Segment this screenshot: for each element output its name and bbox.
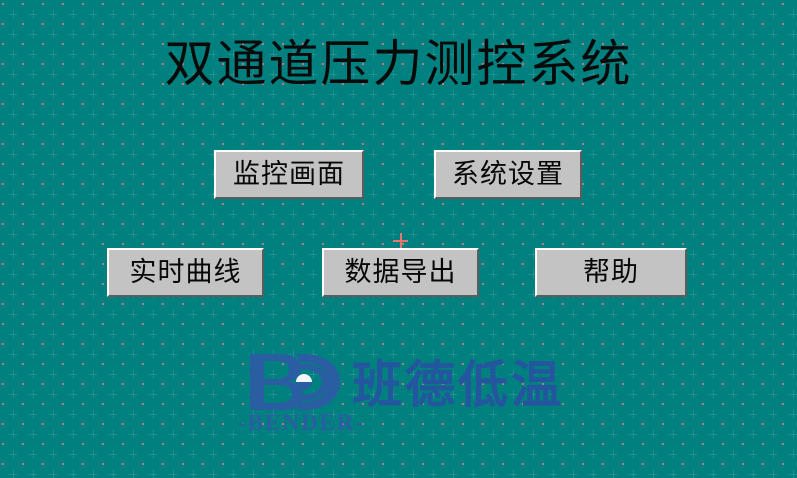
button-data-export[interactable]: 数据导出 [322, 248, 479, 297]
company-logo: -BENDER- 班德低温 [246, 352, 586, 444]
button-monitor-screen[interactable]: 监控画面 [214, 150, 364, 199]
button-realtime-curve[interactable]: 实时曲线 [107, 248, 264, 297]
button-help[interactable]: 帮助 [535, 248, 687, 297]
application-screen: 双通道压力测控系统 监控画面 系统设置 实时曲线 数据导出 帮助 -BENDER… [0, 0, 797, 478]
logo-chinese-name: 班德低温 [352, 358, 564, 412]
button-system-settings[interactable]: 系统设置 [434, 150, 582, 199]
logo-latin-name: -BENDER- [238, 410, 365, 436]
bd-monogram-icon [246, 352, 342, 412]
page-title: 双通道压力测控系统 [0, 35, 797, 93]
crosshair-marker-icon [393, 233, 408, 248]
